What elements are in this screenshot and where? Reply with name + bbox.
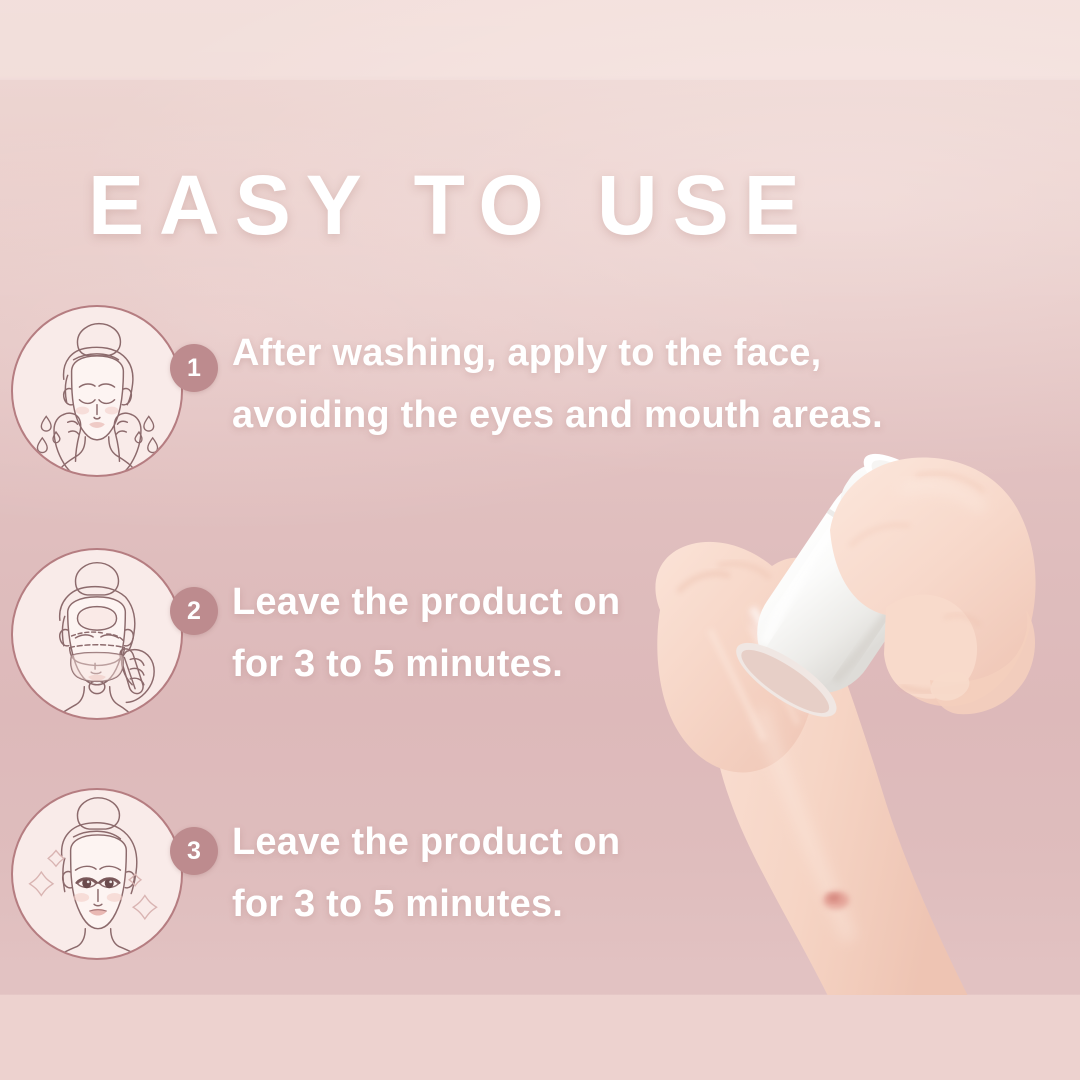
- face-applying-stick-icon: [13, 550, 181, 718]
- step-number-badge: 3: [170, 827, 218, 875]
- step-illustration-circle: [11, 548, 183, 720]
- step-line: Leave the product on: [232, 571, 620, 633]
- page-title: EASY TO USE: [88, 163, 815, 247]
- step-illustration-circle: [11, 305, 183, 477]
- step-description: Leave the product on for 3 to 5 minutes.: [232, 811, 620, 935]
- step-line: for 3 to 5 minutes.: [232, 873, 620, 935]
- step-line: for 3 to 5 minutes.: [232, 633, 620, 695]
- step-line: After washing, apply to the face,: [232, 322, 883, 384]
- step-description: Leave the product on for 3 to 5 minutes.: [232, 571, 620, 695]
- step-row: 3 Leave the product on for 3 to 5 minute…: [0, 783, 1080, 983]
- step-number-badge: 2: [170, 587, 218, 635]
- step-line: avoiding the eyes and mouth areas.: [232, 384, 883, 446]
- step-number-badge: 1: [170, 344, 218, 392]
- face-glowing-icon: [13, 790, 181, 958]
- background-band-bottom: [0, 995, 1080, 1080]
- background-band-top: [0, 0, 1080, 80]
- step-illustration-circle: [11, 788, 183, 960]
- infographic-canvas: EASY TO USE: [0, 0, 1080, 1080]
- face-washing-icon: [13, 307, 181, 475]
- step-row: 1 After washing, apply to the face, avoi…: [0, 300, 1080, 500]
- step-description: After washing, apply to the face, avoidi…: [232, 322, 883, 446]
- step-row: 2 Leave the product on for 3 to 5 minute…: [0, 543, 1080, 743]
- step-line: Leave the product on: [232, 811, 620, 873]
